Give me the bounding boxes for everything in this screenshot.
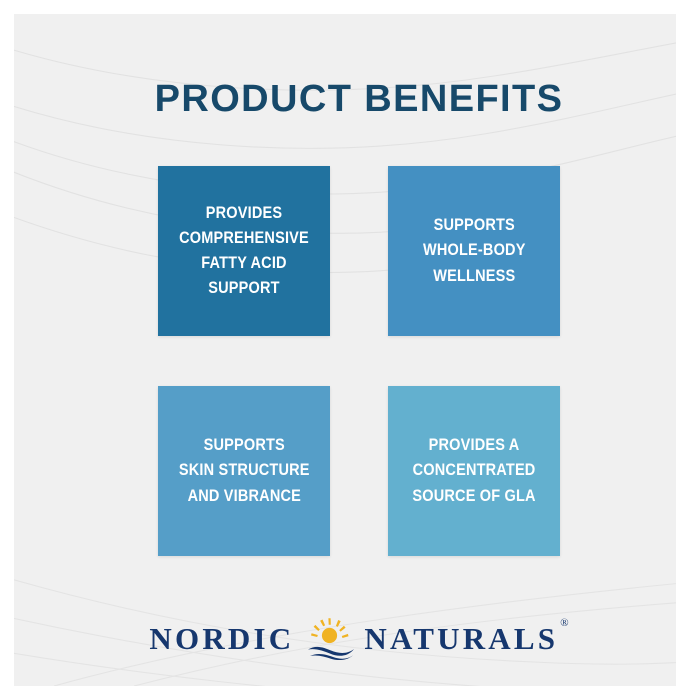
benefit-box-4: PROVIDES A CONCENTRATED SOURCE OF GLA bbox=[388, 386, 560, 556]
logo-word-naturals: NATURALS bbox=[364, 623, 558, 654]
benefit-box-1: PROVIDES COMPREHENSIVE FATTY ACID SUPPOR… bbox=[158, 166, 330, 336]
content-panel: PRODUCT BENEFITS PROVIDES COMPREHENSIVE … bbox=[14, 14, 676, 686]
benefit-text-4: PROVIDES A CONCENTRATED SOURCE OF GLA bbox=[409, 433, 539, 508]
sun-wave-logo-icon bbox=[304, 616, 358, 660]
benefit-box-3: SUPPORTS SKIN STRUCTURE AND VIBRANCE bbox=[158, 386, 330, 556]
benefits-grid: PROVIDES COMPREHENSIVE FATTY ACID SUPPOR… bbox=[158, 166, 560, 556]
brand-logo: NORDIC bbox=[14, 616, 676, 660]
benefit-text-3: SUPPORTS SKIN STRUCTURE AND VIBRANCE bbox=[175, 433, 313, 508]
benefit-box-2: SUPPORTS WHOLE-BODY WELLNESS bbox=[388, 166, 560, 336]
product-benefits-graphic: PRODUCT BENEFITS PROVIDES COMPREHENSIVE … bbox=[0, 0, 690, 700]
logo-word-nordic: NORDIC bbox=[149, 623, 294, 654]
page-title: PRODUCT BENEFITS bbox=[14, 78, 676, 121]
benefit-text-2: SUPPORTS WHOLE-BODY WELLNESS bbox=[419, 213, 529, 288]
registered-trademark-icon: ® bbox=[560, 618, 568, 629]
benefit-text-1: PROVIDES COMPREHENSIVE FATTY ACID SUPPOR… bbox=[168, 201, 319, 301]
